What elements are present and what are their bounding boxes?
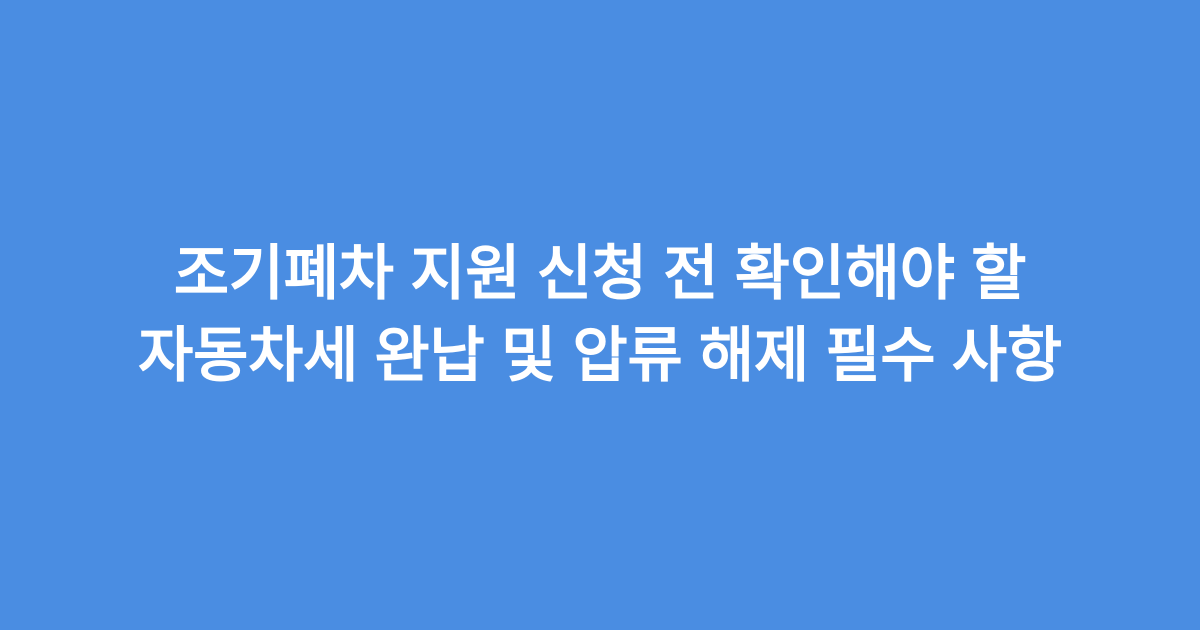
share-card: 조기폐차 지원 신청 전 확인해야 할 자동차세 완납 및 압류 해제 필수 사… xyxy=(0,0,1200,630)
share-card-content: 조기폐차 지원 신청 전 확인해야 할 자동차세 완납 및 압류 해제 필수 사… xyxy=(70,233,1130,397)
page-title: 조기폐차 지원 신청 전 확인해야 할 자동차세 완납 및 압류 해제 필수 사… xyxy=(70,233,1130,397)
